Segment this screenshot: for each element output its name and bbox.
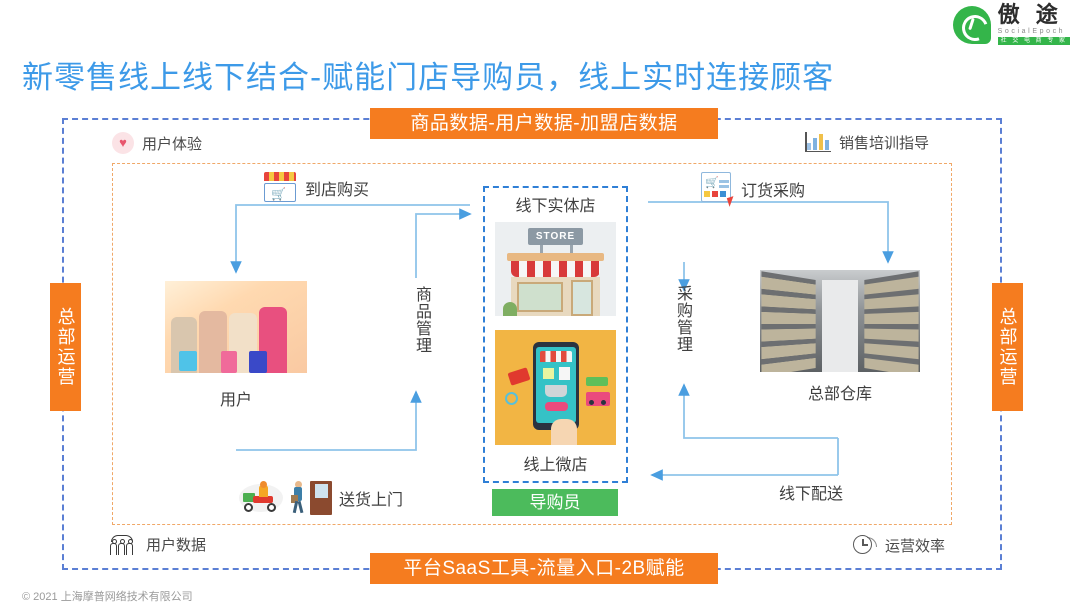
- heart-icon: [112, 132, 134, 154]
- delivery-truck-icon: [586, 392, 610, 406]
- users-photo: [165, 281, 307, 373]
- banner-top-data: 商品数据-用户数据-加盟店数据: [370, 108, 718, 139]
- chart-icon: [805, 131, 831, 153]
- logo-english-name: SocialEpoch: [998, 28, 1070, 35]
- footer-copyright: © 2021 上海摩普网络技术有限公司: [22, 588, 193, 604]
- label-user-data-text: 用户数据: [146, 534, 206, 555]
- phone-shop-awning: [540, 351, 572, 362]
- store-sign-text: STORE: [528, 228, 583, 245]
- buy-button-graphic: [545, 402, 568, 411]
- users-caption: 用户: [165, 386, 307, 410]
- logo-chinese-name: 傲 途: [998, 4, 1070, 26]
- flow-label-product-management: 商品管理: [409, 286, 433, 354]
- label-user-data: 用户数据: [110, 534, 206, 555]
- hand-pointer-graphic: [551, 419, 577, 445]
- gear-clock-icon: [851, 533, 877, 557]
- label-operation-efficiency-text: 运营效率: [885, 535, 945, 556]
- label-user-experience-text: 用户体验: [142, 133, 202, 154]
- logo-text: 傲 途 SocialEpoch 社 交 电 商 专 家: [998, 4, 1070, 45]
- shop-cart-icon: 🛒: [262, 172, 298, 204]
- flow-label-order-procurement-text: 订货采购: [741, 177, 805, 201]
- warehouse-photo: [760, 270, 920, 372]
- shopping-bag: [221, 351, 237, 373]
- scooter-icon: [239, 482, 283, 514]
- logo-tagline: 社 交 电 商 专 家: [998, 37, 1070, 45]
- guide-badge: 导购员: [492, 489, 618, 516]
- banner-bottom-saas: 平台SaaS工具-流量入口-2B赋能: [370, 553, 718, 584]
- price-tag-icon: [507, 367, 530, 386]
- label-sales-training: 销售培训指导: [805, 131, 929, 153]
- warehouse-aisle: [822, 280, 858, 372]
- shopping-bag: [249, 351, 267, 373]
- offline-store-image: STORE: [495, 222, 616, 316]
- online-store-title: 线上微店: [483, 451, 628, 475]
- brand-logo: 傲 途 SocialEpoch 社 交 电 商 专 家: [953, 4, 1070, 45]
- flow-label-procurement-management: 采购管理: [670, 285, 694, 353]
- warehouse-caption: 总部仓库: [760, 380, 920, 404]
- page-title: 新零售线上线下结合-赋能门店导购员，线上实时连接顾客: [22, 52, 834, 97]
- banner-left-hq-operations: 总部运营: [50, 283, 81, 411]
- shopping-cart-icon: [545, 385, 567, 397]
- door-delivery-icon: [290, 481, 332, 515]
- store-door: [571, 280, 593, 316]
- flow-label-home-delivery-text: 送货上门: [339, 486, 403, 510]
- shopping-bag: [179, 351, 197, 371]
- online-store-image: [495, 330, 616, 445]
- banner-right-hq-operations: 总部运营: [992, 283, 1023, 411]
- store-roof: [507, 253, 604, 261]
- label-user-experience: 用户体验: [112, 132, 202, 154]
- people-icon: [110, 535, 138, 555]
- online-order-icon: 🛒: [700, 172, 734, 206]
- label-operation-efficiency: 运营效率: [851, 533, 945, 557]
- warehouse-rack-right: [864, 271, 918, 372]
- flow-label-in-store-purchase-text: 到店购买: [305, 176, 369, 200]
- gift-box-icon: [543, 368, 554, 379]
- label-sales-training-text: 销售培训指导: [839, 132, 929, 153]
- green-label-graphic: [586, 377, 608, 386]
- flow-label-home-delivery: 送货上门: [239, 481, 403, 515]
- store-plant: [503, 302, 517, 316]
- flow-label-offline-delivery: 线下配送: [779, 480, 843, 504]
- store-window: [517, 282, 563, 312]
- store-awning: [511, 261, 600, 277]
- logo-mark-icon: [953, 6, 991, 44]
- flow-label-in-store-purchase: 🛒 到店购买: [262, 172, 369, 204]
- offline-store-title: 线下实体店: [483, 192, 628, 216]
- calculator-icon: [559, 367, 570, 380]
- warehouse-rack-left: [761, 271, 815, 372]
- flow-label-order-procurement: 🛒 订货采购: [700, 172, 805, 206]
- magnifier-icon: [505, 392, 518, 405]
